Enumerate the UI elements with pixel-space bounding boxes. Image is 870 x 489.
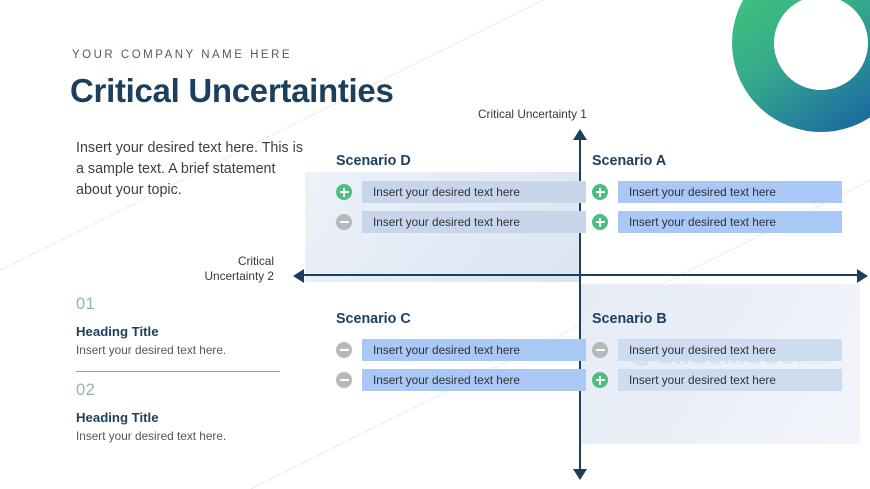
- quadrant-scenario-d: Scenario D Insert your desired text here…: [336, 154, 586, 241]
- horizontal-axis-line: [303, 274, 860, 276]
- plus-circle-icon: [592, 214, 608, 230]
- scenario-item-text[interactable]: Insert your desired text here: [618, 339, 842, 361]
- scenario-item[interactable]: Insert your desired text here: [592, 181, 842, 203]
- axis-arrow-left-icon: [293, 269, 304, 283]
- item-number: 02: [76, 382, 286, 399]
- axis-arrow-up-icon: [573, 129, 587, 140]
- minus-circle-icon: [592, 342, 608, 358]
- scenario-item-text[interactable]: Insert your desired text here: [362, 211, 586, 233]
- axis-label-left-line2: Uncertainty 2: [204, 269, 274, 283]
- company-name-eyebrow: YOUR COMPANY NAME HERE: [72, 49, 292, 61]
- scenario-item[interactable]: Insert your desired text here: [336, 181, 586, 203]
- quadrant-title: Scenario A: [592, 154, 842, 168]
- plus-circle-icon: [592, 372, 608, 388]
- minus-circle-icon: [336, 372, 352, 388]
- minus-circle-icon: [336, 214, 352, 230]
- item-description: Insert your desired text here.: [76, 429, 286, 445]
- scenario-item-text[interactable]: Insert your desired text here: [618, 211, 842, 233]
- axis-arrow-down-icon: [573, 469, 587, 480]
- page-title: Critical Uncertainties: [70, 72, 394, 110]
- scenario-matrix: Critical Uncertainty 1 Critical Uncertai…: [280, 112, 860, 472]
- quadrant-title: Scenario C: [336, 312, 586, 326]
- axis-label-left: Critical Uncertainty 2: [202, 254, 274, 283]
- lead-paragraph: Insert your desired text here. This is a…: [76, 138, 304, 201]
- scenario-item[interactable]: Insert your desired text here: [336, 369, 586, 391]
- axis-label-left-line1: Critical: [238, 254, 274, 268]
- scenario-item[interactable]: Insert your desired text here: [592, 339, 842, 361]
- item-description: Insert your desired text here.: [76, 343, 286, 359]
- scenario-item[interactable]: Insert your desired text here: [336, 339, 586, 361]
- quadrant-title: Scenario B: [592, 312, 842, 326]
- quadrant-scenario-a: Scenario A Insert your desired text here…: [592, 154, 842, 241]
- scenario-item-text[interactable]: Insert your desired text here: [362, 339, 586, 361]
- quadrant-scenario-b: Scenario B Insert your desired text here…: [592, 312, 842, 399]
- quadrant-scenario-c: Scenario C Insert your desired text here…: [336, 312, 586, 399]
- axis-label-top: Critical Uncertainty 1: [478, 107, 587, 121]
- scenario-item[interactable]: Insert your desired text here: [592, 211, 842, 233]
- slide-canvas: YOUR COMPANY NAME HERE Critical Uncertai…: [0, 0, 870, 489]
- item-heading: Heading Title: [76, 411, 286, 424]
- item-heading: Heading Title: [76, 325, 286, 338]
- minus-circle-icon: [336, 342, 352, 358]
- scenario-item-text[interactable]: Insert your desired text here: [362, 181, 586, 203]
- section-divider: [76, 371, 280, 372]
- plus-circle-icon: [592, 184, 608, 200]
- scenario-item-text[interactable]: Insert your desired text here: [362, 369, 586, 391]
- scenario-item-text[interactable]: Insert your desired text here: [618, 181, 842, 203]
- quadrant-title: Scenario D: [336, 154, 586, 168]
- numbered-item-2: 02 Heading Title Insert your desired tex…: [76, 382, 286, 445]
- item-number: 01: [76, 296, 286, 313]
- scenario-item[interactable]: Insert your desired text here: [592, 369, 842, 391]
- plus-circle-icon: [336, 184, 352, 200]
- numbered-item-1: 01 Heading Title Insert your desired tex…: [76, 296, 286, 359]
- axis-arrow-right-icon: [857, 269, 868, 283]
- scenario-item-text[interactable]: Insert your desired text here: [618, 369, 842, 391]
- scenario-item[interactable]: Insert your desired text here: [336, 211, 586, 233]
